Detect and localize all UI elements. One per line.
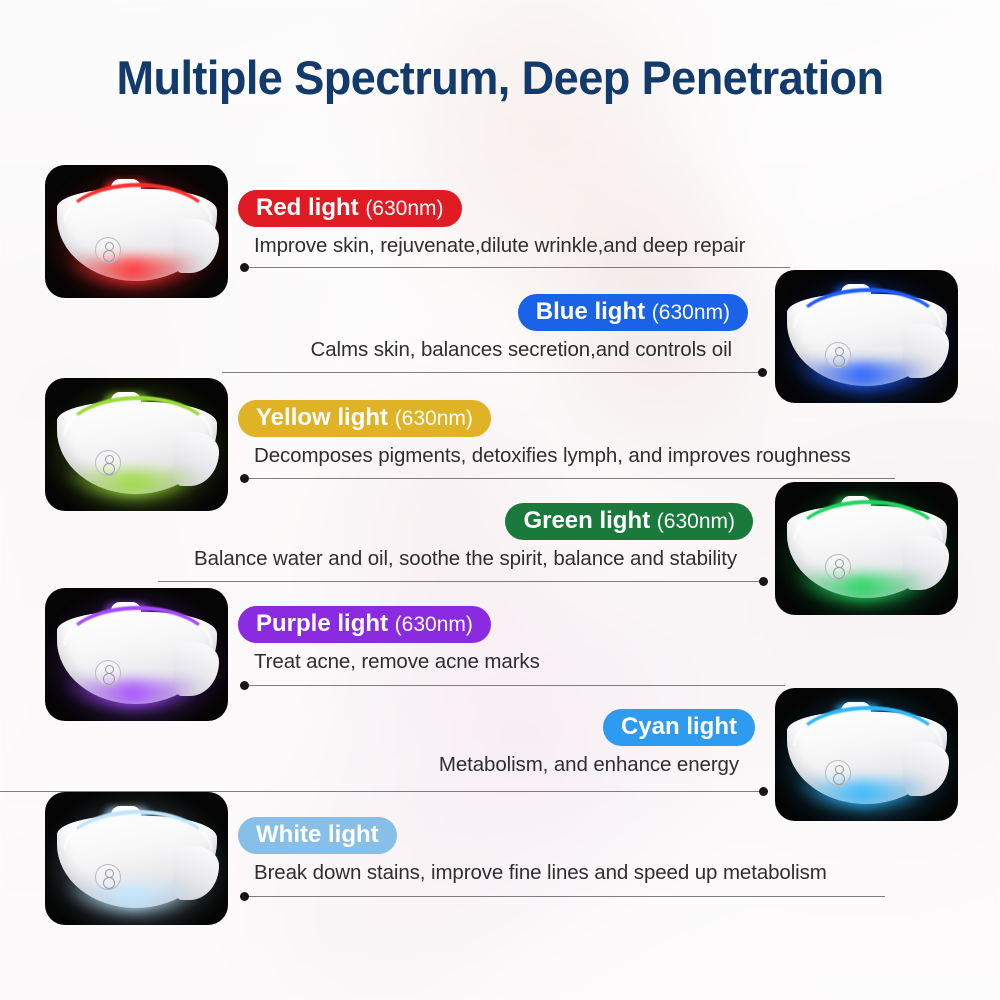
label-pill-purple-light[interactable]: Purple light (630nm) <box>238 606 491 643</box>
device-rim <box>63 606 213 646</box>
bottom-led-strip <box>793 780 933 806</box>
label-pill-white-light[interactable]: White light <box>238 817 397 854</box>
device-rim <box>63 183 213 223</box>
purple-light-device <box>45 588 228 721</box>
led-mask-device <box>57 604 217 708</box>
device-rim <box>793 288 943 328</box>
light-wavelength: (630nm) <box>395 407 473 430</box>
spectrum-row-white-light: White lightBreak down stains, improve fi… <box>238 817 827 885</box>
light-description: Improve skin, rejuvenate,dilute wrinkle,… <box>238 234 745 258</box>
spectrum-row-cyan-light: Cyan lightMetabolism, and enhance energy <box>439 709 755 777</box>
light-name: Green light <box>523 507 650 534</box>
connector-rule <box>0 791 768 792</box>
device-rim <box>63 396 213 436</box>
power-button-icon[interactable] <box>825 554 851 580</box>
connector-rule <box>158 581 768 582</box>
led-mask-device <box>787 498 947 602</box>
white-light-device <box>45 792 228 925</box>
light-name: White light <box>256 821 379 848</box>
light-name: Purple light <box>256 610 388 637</box>
connector-rule <box>240 478 895 479</box>
connector-line-yellow-light <box>240 474 895 483</box>
connector-line-cyan-light <box>0 787 768 796</box>
bottom-led-strip <box>63 470 203 496</box>
label-pill-green-light[interactable]: Green light (630nm) <box>505 503 753 540</box>
spectrum-row-blue-light: Blue light (630nm)Calms skin, balances s… <box>311 294 748 362</box>
light-name: Yellow light <box>256 404 388 431</box>
led-mask-device <box>787 704 947 808</box>
bottom-led-strip <box>793 362 933 388</box>
cyan-light-device <box>775 688 958 821</box>
light-wavelength: (630nm) <box>365 197 443 220</box>
connector-rule <box>240 685 785 686</box>
connector-line-white-light <box>240 892 885 901</box>
led-mask-device <box>57 181 217 285</box>
device-rim <box>793 706 943 746</box>
power-button-icon[interactable] <box>95 660 121 686</box>
connector-dot <box>759 787 768 796</box>
led-mask-device <box>57 394 217 498</box>
bottom-led-strip <box>63 884 203 910</box>
label-pill-yellow-light[interactable]: Yellow light (630nm) <box>238 400 491 437</box>
label-pill-red-light[interactable]: Red light (630nm) <box>238 190 462 227</box>
light-name: Blue light <box>536 298 645 325</box>
label-pill-cyan-light[interactable]: Cyan light <box>603 709 755 746</box>
blue-light-device <box>775 270 958 403</box>
bottom-led-strip <box>63 257 203 283</box>
light-description: Treat acne, remove acne marks <box>238 650 540 674</box>
spectrum-row-yellow-light: Yellow light (630nm)Decomposes pigments,… <box>238 400 851 468</box>
connector-dot <box>759 577 768 586</box>
connector-rule <box>240 267 790 268</box>
power-button-icon[interactable] <box>95 237 121 263</box>
led-mask-device <box>787 286 947 390</box>
spectrum-row-red-light: Red light (630nm)Improve skin, rejuvenat… <box>238 190 745 258</box>
infographic-canvas: Multiple Spectrum, Deep Penetration Red … <box>0 0 1000 1000</box>
connector-dot <box>240 892 249 901</box>
green-light-device <box>775 482 958 615</box>
light-wavelength: (630nm) <box>657 510 735 533</box>
power-button-icon[interactable] <box>95 450 121 476</box>
connector-rule <box>222 372 767 373</box>
light-name: Cyan light <box>621 713 737 740</box>
red-light-device <box>45 165 228 298</box>
connector-rule <box>240 896 885 897</box>
connector-line-red-light <box>240 263 790 272</box>
label-pill-blue-light[interactable]: Blue light (630nm) <box>518 294 748 331</box>
device-rim <box>793 500 943 540</box>
power-button-icon[interactable] <box>825 342 851 368</box>
led-mask-device <box>57 808 217 912</box>
light-wavelength: (630nm) <box>395 613 473 636</box>
connector-line-blue-light <box>222 368 767 377</box>
light-description: Decomposes pigments, detoxifies lymph, a… <box>238 444 851 468</box>
connector-dot <box>240 474 249 483</box>
power-button-icon[interactable] <box>825 760 851 786</box>
device-rim <box>63 810 213 850</box>
connector-dot <box>758 368 767 377</box>
bottom-led-strip <box>793 574 933 600</box>
light-description: Break down stains, improve fine lines an… <box>238 861 827 885</box>
connector-dot <box>240 263 249 272</box>
light-wavelength: (630nm) <box>652 301 730 324</box>
spectrum-row-purple-light: Purple light (630nm)Treat acne, remove a… <box>238 606 540 674</box>
power-button-icon[interactable] <box>95 864 121 890</box>
light-description: Metabolism, and enhance energy <box>439 753 755 777</box>
connector-line-purple-light <box>240 681 785 690</box>
yellow-light-device <box>45 378 228 511</box>
light-name: Red light <box>256 194 359 221</box>
page-title: Multiple Spectrum, Deep Penetration <box>20 50 980 105</box>
connector-dot <box>240 681 249 690</box>
light-description: Balance water and oil, soothe the spirit… <box>194 547 753 571</box>
bottom-led-strip <box>63 680 203 706</box>
connector-line-green-light <box>158 577 768 586</box>
light-description: Calms skin, balances secretion,and contr… <box>311 338 748 362</box>
spectrum-row-green-light: Green light (630nm)Balance water and oil… <box>194 503 753 571</box>
